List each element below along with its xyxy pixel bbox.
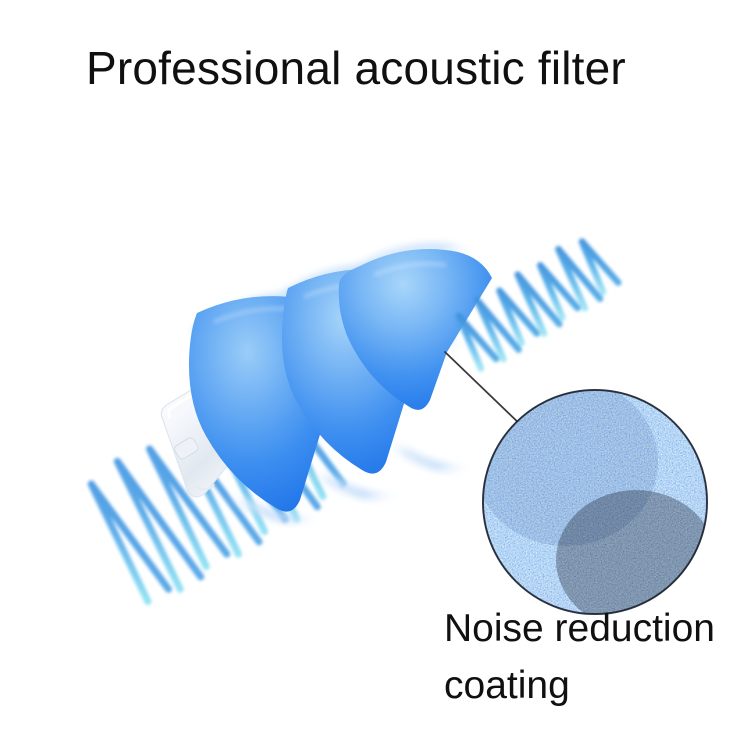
- attenuated-sound-wave-icon: [449, 232, 620, 372]
- callout-label-line-1: Noise reduction: [444, 607, 715, 651]
- page-title: Professional acoustic filter: [86, 41, 626, 95]
- callout-label-line-2: coating: [444, 664, 570, 708]
- callout-leader-line: [445, 352, 524, 428]
- product-infographic: Professional acoustic filter Noise reduc…: [0, 0, 750, 750]
